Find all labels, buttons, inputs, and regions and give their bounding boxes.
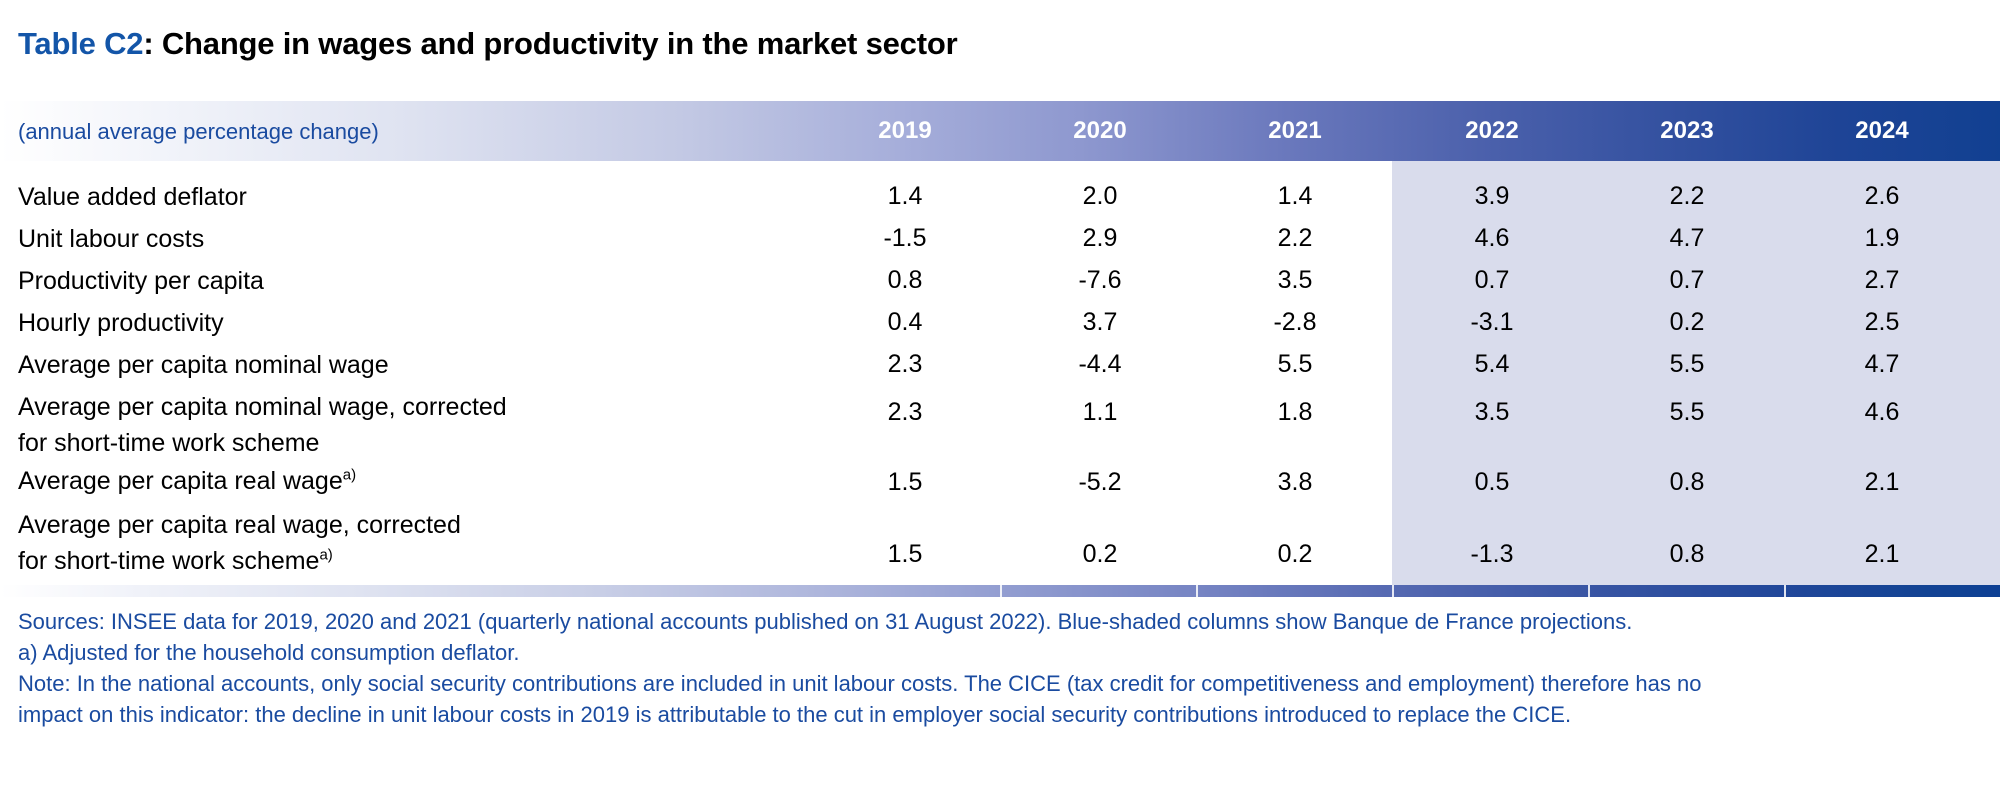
row-label-text: Average per capita nominal wage, correct…: [18, 393, 507, 421]
row-label-text: for short-time work scheme: [18, 429, 319, 457]
row-label-continued: for short-time work schemea): [18, 540, 333, 582]
table-cell: -1.3: [1417, 540, 1567, 569]
table-cell: -4.4: [1025, 350, 1175, 379]
table-cell: 2.9: [1025, 224, 1175, 253]
table-cell: 3.5: [1220, 266, 1370, 295]
table-cell: 2.5: [1807, 308, 1957, 337]
column-header-2024: 2024: [1807, 117, 1957, 145]
column-header-2019: 2019: [830, 117, 980, 145]
table-cell: 0.8: [830, 266, 980, 295]
table-figure-c2: Table C2: Change in wages and productivi…: [0, 0, 2000, 786]
row-label-text: Average per capita real wage, corrected: [18, 511, 461, 539]
bottom-gradient-rule: [0, 585, 2000, 597]
table-cell: 2.6: [1807, 182, 1957, 211]
column-header-2021: 2021: [1220, 117, 1370, 145]
table-cell: 2.2: [1612, 182, 1762, 211]
table-cell: 2.1: [1807, 468, 1957, 497]
bar-segment-divider: [1196, 585, 1198, 597]
table-cell: 1.5: [830, 540, 980, 569]
table-cell: 3.9: [1417, 182, 1567, 211]
table-cell: 0.2: [1220, 540, 1370, 569]
table-cell: 0.5: [1417, 468, 1567, 497]
table-cell: -2.8: [1220, 308, 1370, 337]
bar-segment-divider: [1588, 585, 1590, 597]
table-cell: 2.2: [1220, 224, 1370, 253]
table-cell: 0.4: [830, 308, 980, 337]
table-body: Value added deflator1.42.01.43.92.22.6Un…: [0, 161, 2000, 585]
table-cell: 1.5: [830, 468, 980, 497]
row-label-text: Productivity per capita: [18, 267, 264, 295]
table-cell: 4.6: [1807, 398, 1957, 427]
column-header-2022: 2022: [1417, 117, 1567, 145]
general-note-line-1: Note: In the national accounts, only soc…: [18, 668, 1983, 699]
table-cell: 5.5: [1612, 350, 1762, 379]
table-cell: 4.7: [1612, 224, 1762, 253]
table-cell: -7.6: [1025, 266, 1175, 295]
row-label: Unit labour costs: [18, 218, 204, 260]
table-cell: 3.5: [1417, 398, 1567, 427]
row-label: Average per capita nominal wage: [18, 344, 389, 386]
bar-segment-divider: [1000, 585, 1002, 597]
row-label: Productivity per capita: [18, 260, 264, 302]
table-cell: 3.7: [1025, 308, 1175, 337]
table-cell: 2.7: [1807, 266, 1957, 295]
row-label: Average per capita real wagea): [18, 460, 356, 502]
footnote-a: a) Adjusted for the household consumptio…: [18, 637, 1983, 668]
table-cell: 0.2: [1025, 540, 1175, 569]
row-label-text: Unit labour costs: [18, 225, 204, 253]
general-note-line-2: impact on this indicator: the decline in…: [18, 699, 1983, 730]
footnote-marker: a): [343, 467, 356, 484]
row-label: Hourly productivity: [18, 302, 224, 344]
table-cell: 0.8: [1612, 468, 1762, 497]
table-cell: 1.4: [830, 182, 980, 211]
table-cell: 0.7: [1417, 266, 1567, 295]
table-cell: 5.5: [1612, 398, 1762, 427]
table-cell: 1.8: [1220, 398, 1370, 427]
row-label-text: Value added deflator: [18, 183, 247, 211]
page-title: Table C2: Change in wages and productivi…: [18, 26, 957, 62]
table-cell: 1.9: [1807, 224, 1957, 253]
row-label: Value added deflator: [18, 176, 247, 218]
table-cell: 0.2: [1612, 308, 1762, 337]
general-note: Note: In the national accounts, only soc…: [18, 668, 1983, 730]
table-notes: Sources: INSEE data for 2019, 2020 and 2…: [18, 606, 1983, 730]
table-cell: 4.7: [1807, 350, 1957, 379]
row-label-continued: for short-time work scheme: [18, 422, 319, 464]
table-cell: 2.3: [830, 350, 980, 379]
row-label-text: Average per capita nominal wage: [18, 351, 389, 379]
table-cell: -3.1: [1417, 308, 1567, 337]
table-number-label: Table C2: [18, 26, 143, 61]
row-label-text: Hourly productivity: [18, 309, 224, 337]
table-cell: -1.5: [830, 224, 980, 253]
column-header-row: 201920202021202220232024: [0, 117, 2000, 149]
table-cell: -5.2: [1025, 468, 1175, 497]
table-cell: 5.4: [1417, 350, 1567, 379]
bar-segment-divider: [1392, 585, 1394, 597]
table-cell: 1.4: [1220, 182, 1370, 211]
table-cell: 5.5: [1220, 350, 1370, 379]
table-cell: 2.3: [830, 398, 980, 427]
row-label-text: Average per capita real wage: [18, 467, 343, 495]
footnote-marker: a): [319, 547, 332, 564]
table-cell: 0.8: [1612, 540, 1762, 569]
table-title-text: : Change in wages and productivity in th…: [143, 26, 957, 61]
column-header-2020: 2020: [1025, 117, 1175, 145]
table-cell: 2.1: [1807, 540, 1957, 569]
row-label-text: for short-time work scheme: [18, 547, 319, 575]
table-cell: 3.8: [1220, 468, 1370, 497]
bar-segment-divider: [1784, 585, 1786, 597]
table-cell: 2.0: [1025, 182, 1175, 211]
column-header-2023: 2023: [1612, 117, 1762, 145]
table-cell: 4.6: [1417, 224, 1567, 253]
table-cell: 0.7: [1612, 266, 1762, 295]
table-cell: 1.1: [1025, 398, 1175, 427]
sources-note: Sources: INSEE data for 2019, 2020 and 2…: [18, 606, 1983, 637]
